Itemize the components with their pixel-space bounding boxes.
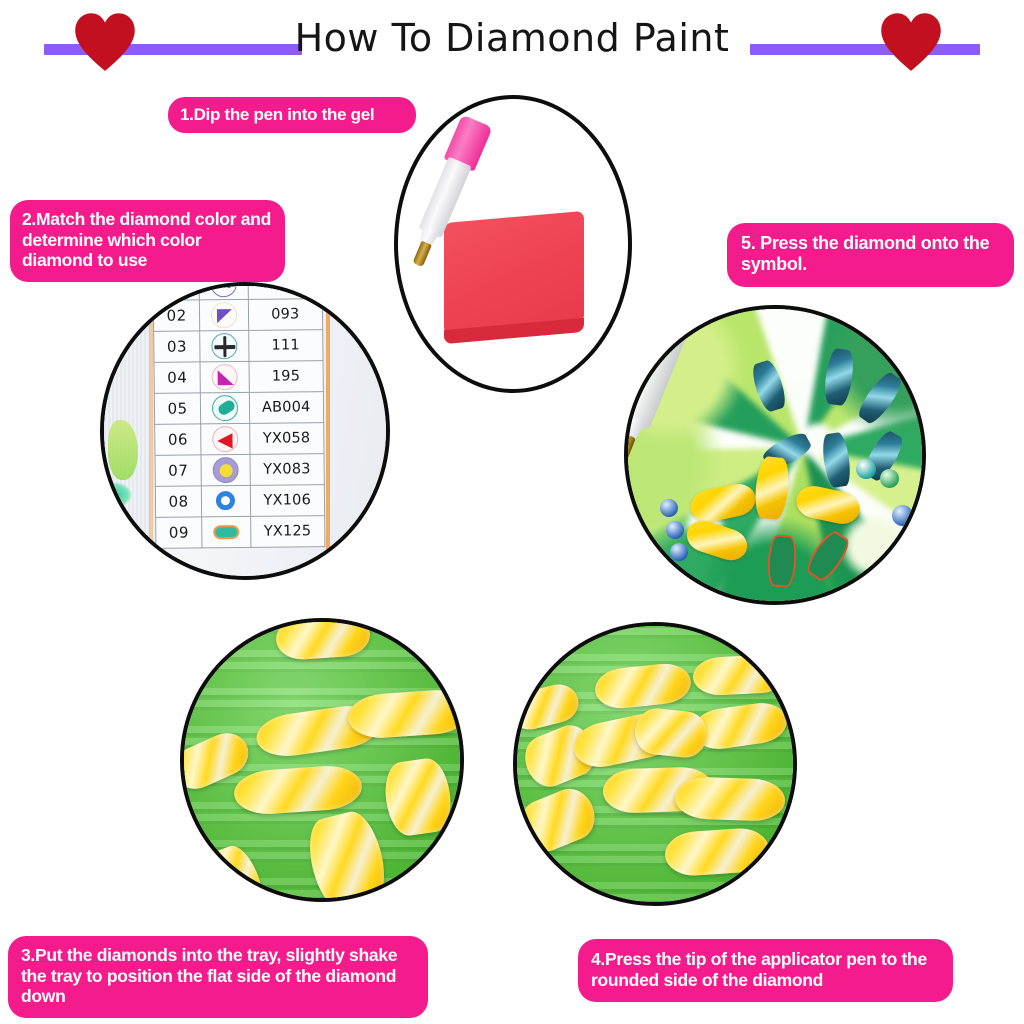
chart-row-code: YX106 [250,485,325,517]
table-row: 04 195 [154,361,323,394]
chart-row-symbol [200,299,249,331]
photo-pen-pressing-diamond [513,622,797,906]
chart-row-code: YX058 [249,423,324,455]
diamond-gem [856,459,876,479]
table-row: 08 YX106 [155,485,324,518]
symbol-teal-oval-icon [212,395,238,421]
photo-pen-dipping-gel [394,95,632,393]
chart-row-symbol [202,516,251,548]
chart-row-code: YX125 [250,516,325,548]
gel-pad [444,211,584,335]
symbol-teal-marquise-icon [213,519,239,545]
chart-row-number: 02 [153,300,200,331]
chart-row-number: 05 [154,393,201,424]
chart-row-symbol [199,282,248,300]
chart-row-code: 195 [249,361,324,393]
diamond-gem-yellow [674,776,785,822]
table-row: 02 093 [153,299,322,332]
photo-color-symbol-chart: 01 028 02 093 03 [100,282,390,580]
chart-row-symbol [200,361,249,393]
symbol-two-blue-dots-icon [210,282,236,297]
photo-press-diamond-onto-symbol [624,305,926,605]
chart-row-code: 111 [248,330,323,362]
diamond-gem [666,521,684,539]
chart-row-number: 09 [156,517,203,548]
table-row: 05 AB004 [154,392,323,425]
diamond-gem [670,543,688,561]
color-symbol-table: 01 028 02 093 03 [153,282,326,549]
symbol-plus-cross-icon [211,333,237,359]
diamond-painting-instruction-infographic: How To Diamond Paint 1.Dip the pen into … [0,0,1024,1024]
table-row: 03 111 [154,330,323,363]
symbol-purple-triangle-icon [211,302,237,328]
photo-diamonds-in-tray [180,618,464,902]
chart-row-number: 03 [154,331,201,362]
chart-row-symbol [201,423,250,455]
step-label-5: 5. Press the diamond onto the symbol. [727,223,1014,287]
chart-row-symbol [201,392,250,424]
chart-row-symbol [201,454,250,486]
diamond-gem [880,469,899,488]
chart-row-code: 028 [248,282,323,299]
step-label-1: 1.Dip the pen into the gel [168,97,416,133]
diamond-gem [892,505,913,526]
step-label-2: 2.Match the diamond color and determine … [10,200,285,282]
step-label-3: 3.Put the diamonds into the tray, slight… [8,936,428,1018]
symbol-magenta-triangle-icon [211,364,237,390]
table-row: 09 YX125 [156,516,325,549]
page-title: How To Diamond Paint [0,16,1024,60]
chart-row-symbol [200,330,249,362]
chart-row-symbol [202,485,251,517]
step-label-4: 4.Press the tip of the applicator pen to… [578,939,953,1002]
chart-row-number: 07 [155,455,202,486]
chart-row-code: AB004 [249,392,324,424]
header: How To Diamond Paint [0,0,1024,86]
pen-brass-tip [624,431,636,479]
pen-brass-tip [412,241,432,267]
chart-row-code: YX083 [250,454,325,486]
chart-edge-line-right [326,286,330,576]
symbol-blue-ring-icon [213,488,239,514]
chart-row-number: 08 [155,486,202,517]
table-row: 06 YX058 [155,423,324,456]
chart-row-number: 01 [153,282,200,300]
chart-row-number: 04 [154,362,201,393]
table-row: 01 028 [153,282,322,300]
table-row: 07 YX083 [155,454,324,487]
diamond-gem [660,499,678,517]
symbol-red-chevron-icon [212,426,238,452]
chart-row-number: 06 [155,424,202,455]
chart-row-code: 093 [248,299,323,331]
symbol-yellow-dot-purple-ring-icon [212,457,238,483]
